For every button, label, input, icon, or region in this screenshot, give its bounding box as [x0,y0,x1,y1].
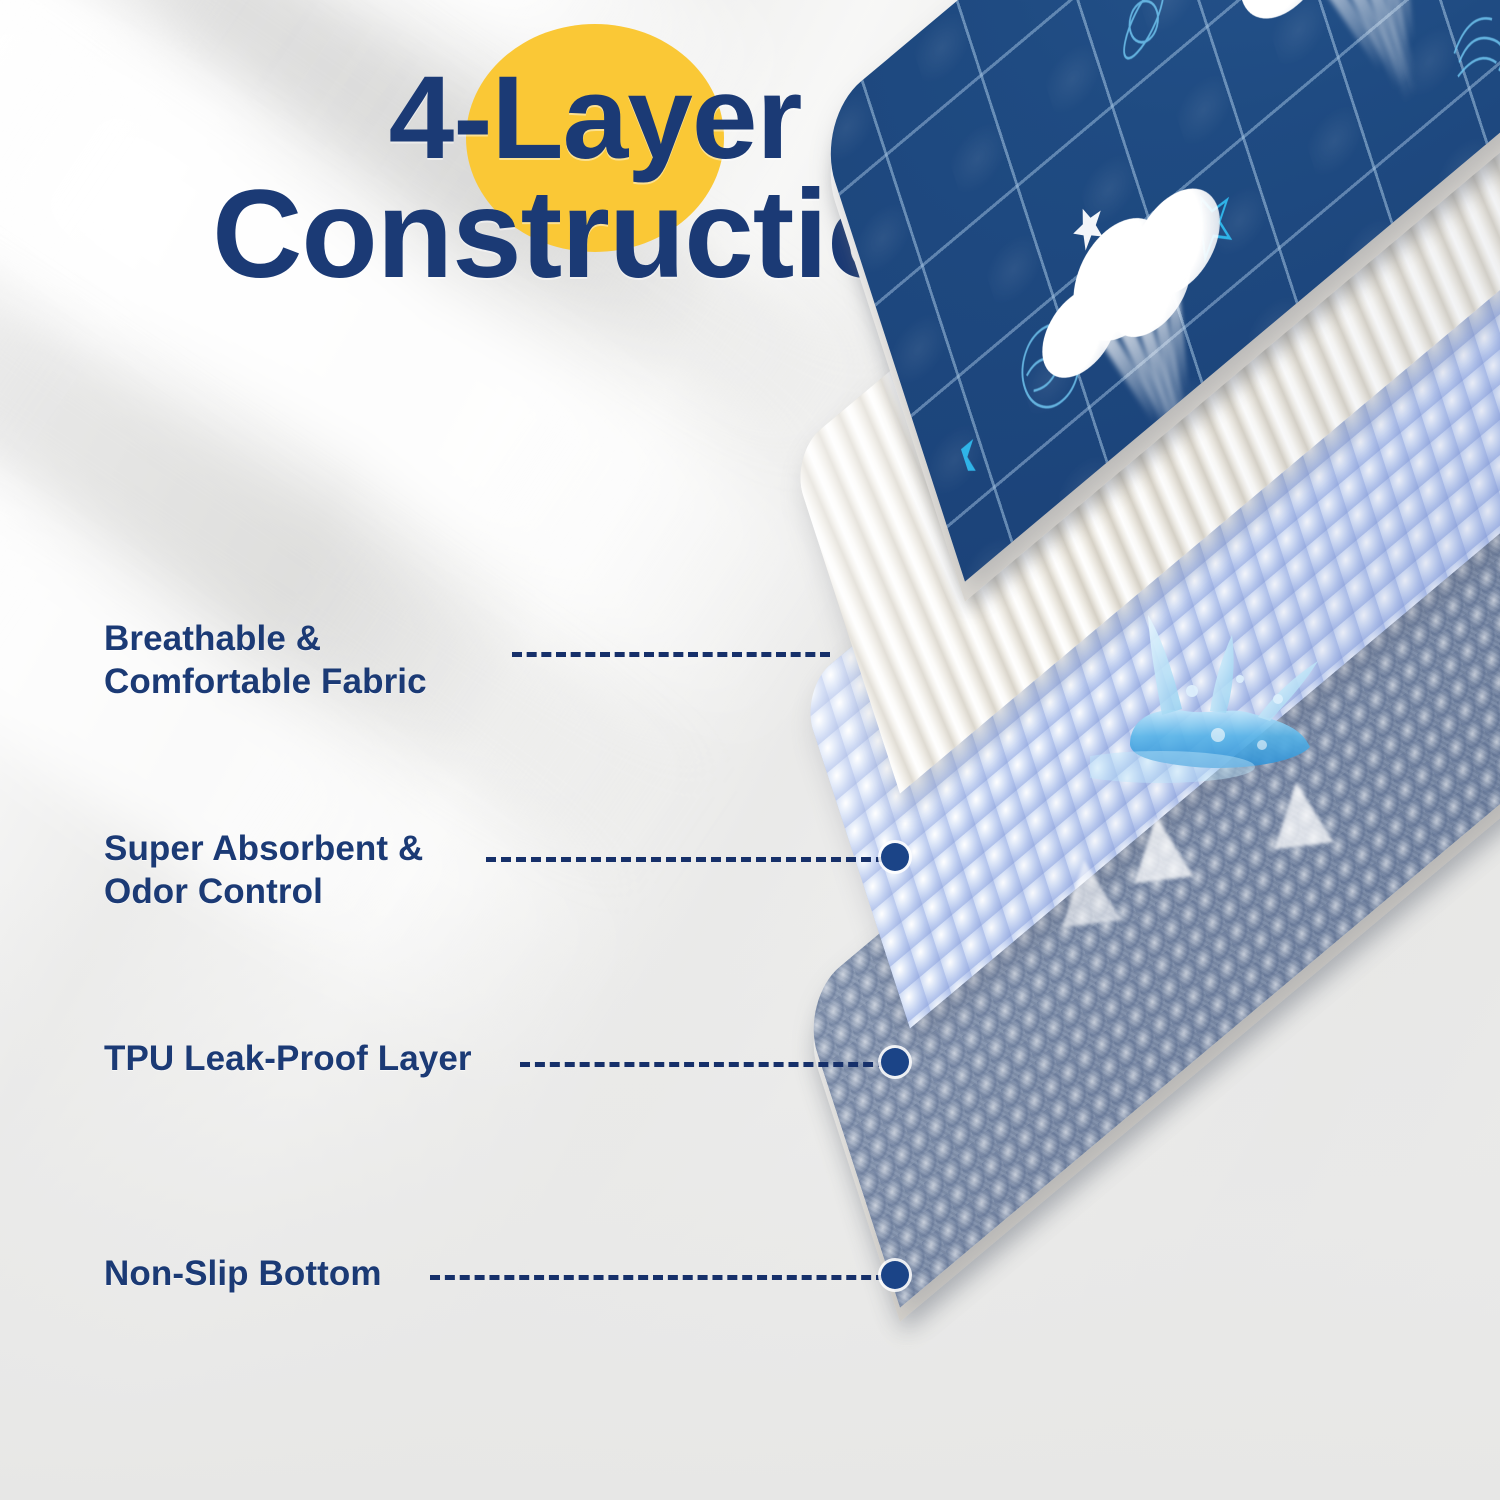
fabric-surface [815,0,1500,582]
leader-endpoint-dot-icon [881,843,909,871]
callout-label-fabric: Breathable & Comfortable Fabric [104,618,427,703]
callout-label-nonslip: Non-Slip Bottom [104,1253,382,1296]
leader-line-nonslip [430,1275,886,1280]
layer-breathable-fabric [815,120,1500,760]
leader-line-tpu [520,1062,888,1067]
leader-endpoint-dot-icon [881,1048,909,1076]
leader-line-absorbent [486,857,886,862]
leader-line-fabric [512,652,830,657]
leader-endpoint-dot-icon [881,1261,909,1289]
callout-label-absorbent: Super Absorbent & Odor Control [104,828,423,913]
callout-label-tpu: TPU Leak-Proof Layer [104,1038,472,1081]
infographic-canvas: 4-Layer Construction [0,0,1500,1500]
